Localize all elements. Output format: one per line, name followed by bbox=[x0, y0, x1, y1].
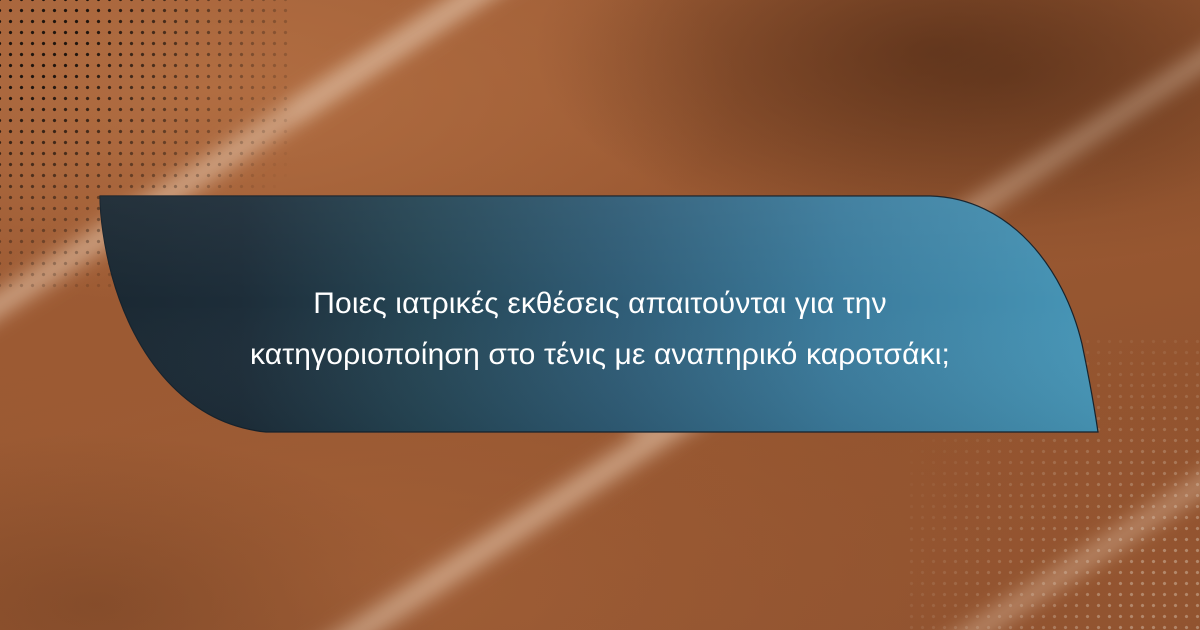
page-title: Ποιες ιατρικές εκθέσεις απαιτούνται για … bbox=[170, 278, 1030, 380]
halftone-pattern-bottom-right bbox=[906, 336, 1200, 630]
social-card: Ποιες ιατρικές εκθέσεις απαιτούνται για … bbox=[0, 0, 1200, 630]
halftone-pattern-top-left bbox=[0, 0, 294, 294]
